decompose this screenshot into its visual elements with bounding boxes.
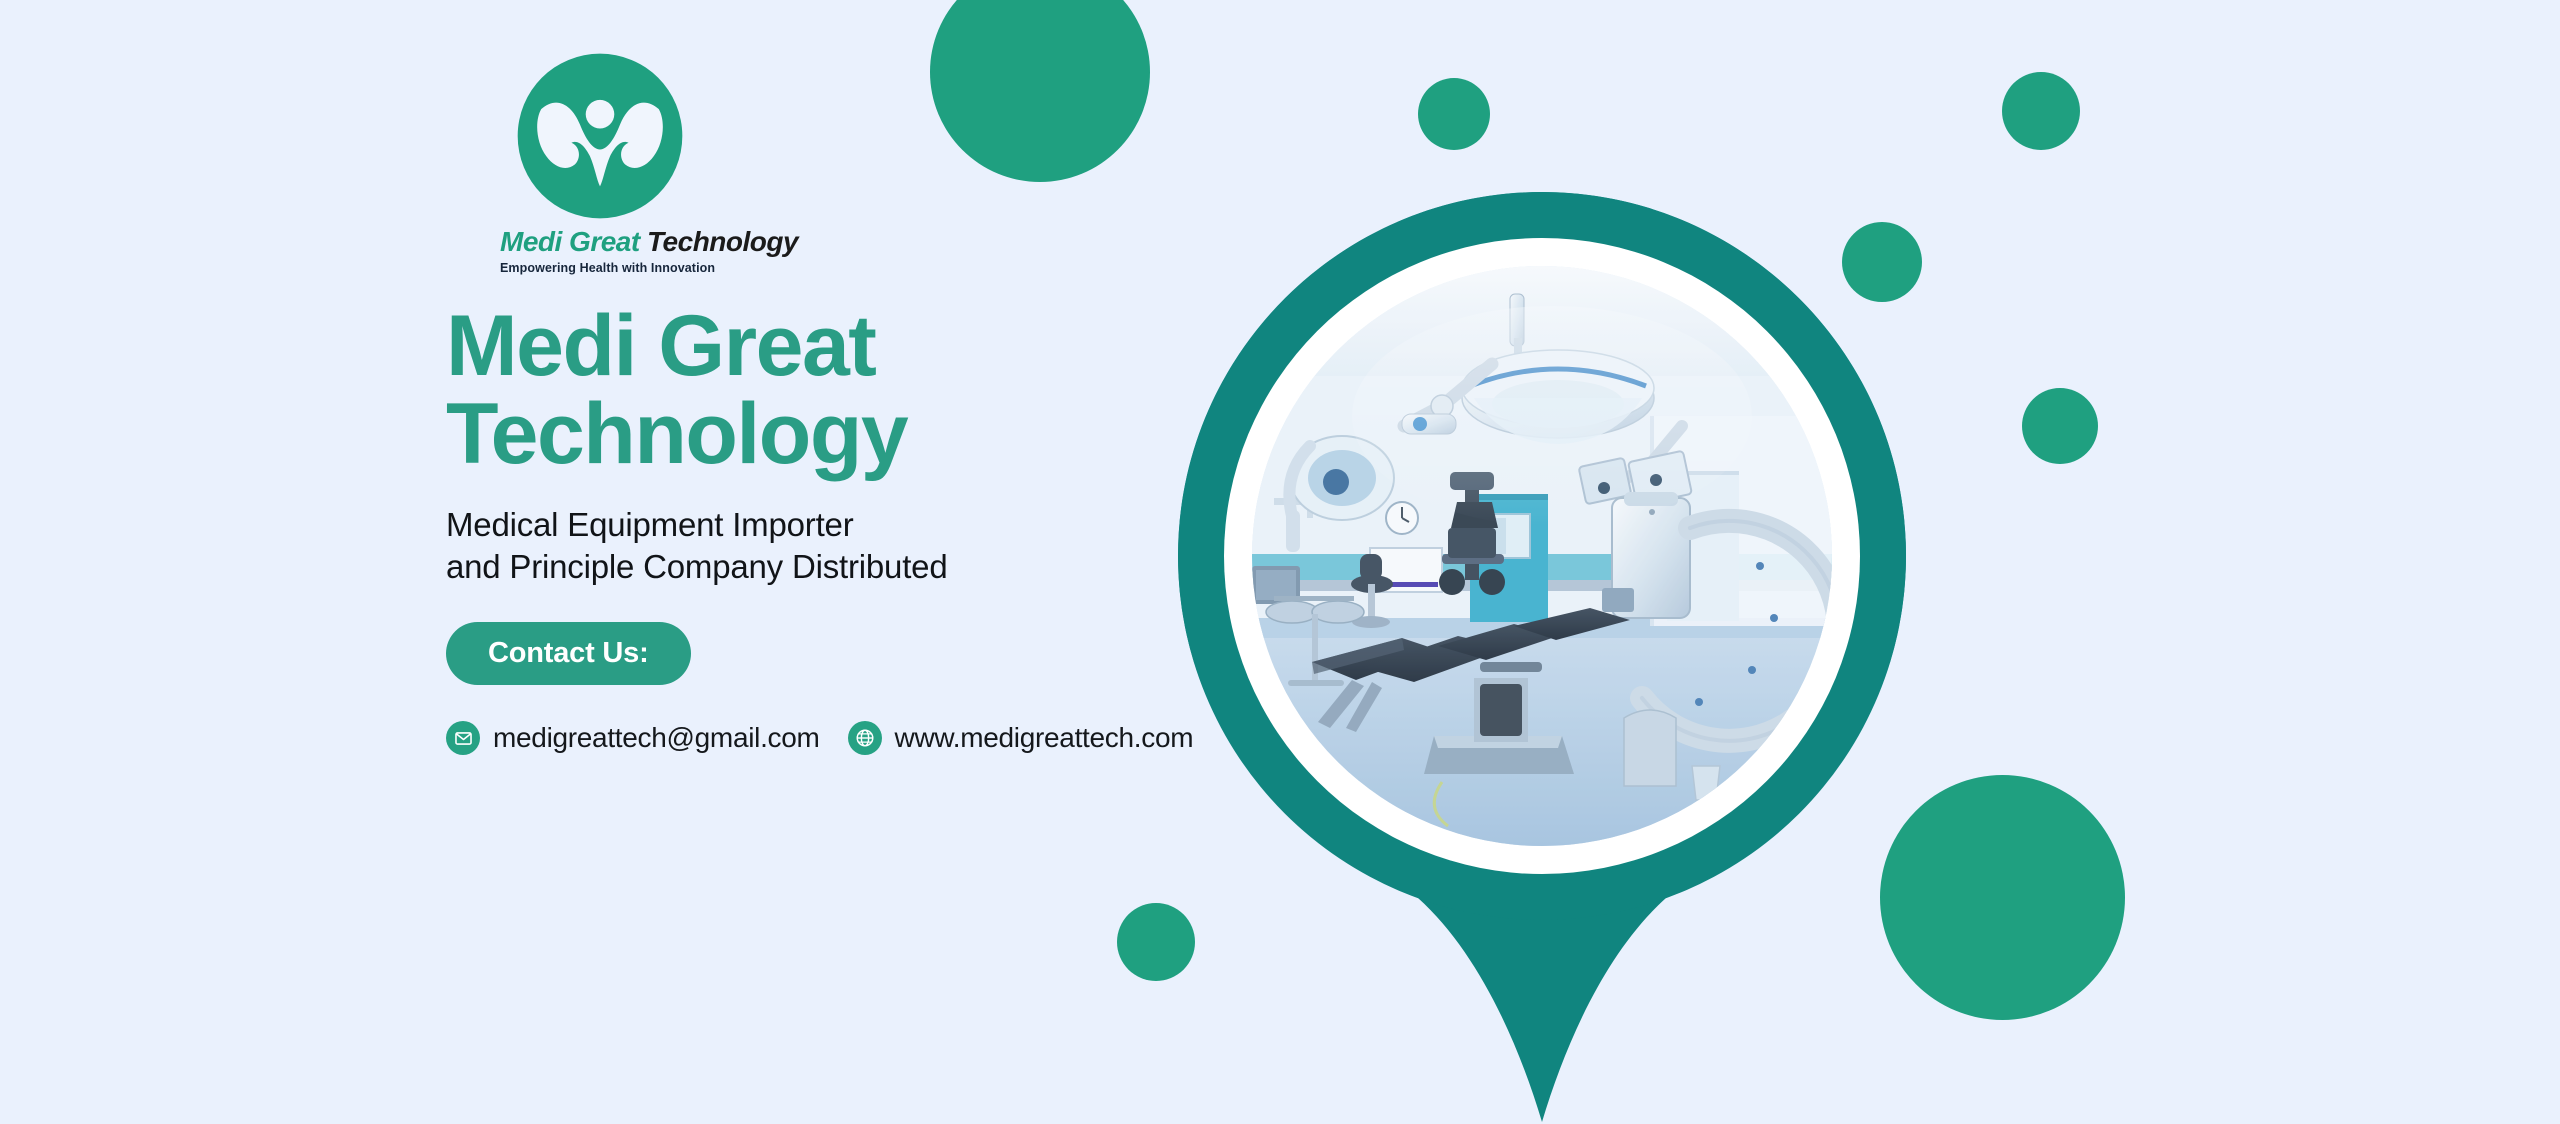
deco-circle-5 (2022, 388, 2098, 464)
deco-circle-7 (1880, 775, 2125, 1020)
email-contact-item[interactable]: medigreattech@gmail.com (446, 721, 820, 755)
website-contact-item[interactable]: www.medigreattech.com (848, 721, 1194, 755)
contact-us-button[interactable]: Contact Us: (446, 622, 691, 685)
map-pin-photo-frame (1178, 192, 1906, 1122)
promo-banner: Medi Great Technology Empowering Health … (0, 0, 2560, 1124)
logo-word-green: Medi Great (500, 226, 640, 257)
globe-icon (848, 721, 882, 755)
content-column: Medi Great Technology Empowering Health … (446, 52, 1166, 755)
medi-great-technology-logomark (516, 52, 684, 220)
subtitle-line-1: Medical Equipment Importer (446, 504, 1166, 546)
logo-tagline: Empowering Health with Innovation (500, 261, 700, 275)
company-logo: Medi Great Technology Empowering Health … (500, 52, 700, 275)
email-text: medigreattech@gmail.com (493, 722, 820, 754)
contact-details-row: medigreattech@gmail.com www.medigreattec… (446, 721, 1166, 755)
website-text: www.medigreattech.com (895, 722, 1194, 754)
page-title: Medi Great Technology (446, 303, 1086, 478)
subtitle-line-2: and Principle Company Distributed (446, 546, 1166, 588)
logo-word-dark: Technology (647, 226, 798, 257)
operating-room-photo (1252, 266, 1832, 846)
deco-circle-2 (1418, 78, 1490, 150)
envelope-icon (446, 721, 480, 755)
logo-wordmark: Medi Great Technology (500, 226, 700, 258)
deco-circle-3 (2002, 72, 2080, 150)
subtitle: Medical Equipment Importer and Principle… (446, 504, 1166, 588)
